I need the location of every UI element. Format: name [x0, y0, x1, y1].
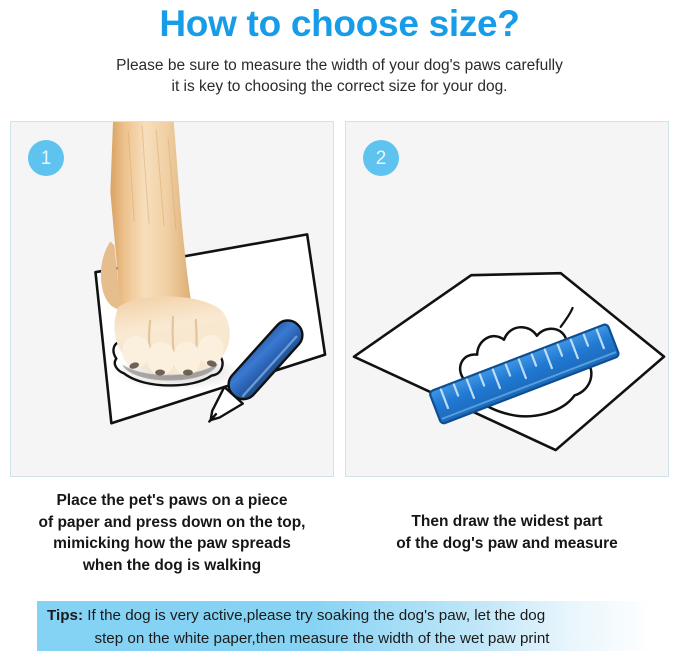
- step-caption-1: Place the pet's paws on a piece of paper…: [8, 490, 336, 576]
- tips-line-2: step on the white paper,then measure the…: [43, 627, 641, 650]
- step-badge-1: 1: [28, 140, 64, 176]
- illustration-paw-on-paper: [11, 122, 333, 476]
- caption-1-line-3: mimicking how the paw spreads: [8, 533, 336, 555]
- tips-line-1: Tips: If the dog is very active,please t…: [43, 604, 641, 627]
- caption-2-line-2: of the dog's paw and measure: [345, 533, 669, 555]
- tips-banner: Tips: If the dog is very active,please t…: [37, 601, 647, 651]
- illustration-paw-outline-with-ruler: [346, 122, 668, 476]
- caption-2-line-1: Then draw the widest part: [345, 511, 669, 533]
- infographic-page: How to choose size? Please be sure to me…: [0, 0, 679, 656]
- step-panel-2: 2: [345, 121, 669, 477]
- caption-1-line-4: when the dog is walking: [8, 555, 336, 577]
- caption-1-line-2: of paper and press down on the top,: [8, 512, 336, 534]
- step-badge-2: 2: [363, 140, 399, 176]
- step-caption-2: Then draw the widest part of the dog's p…: [345, 511, 669, 554]
- step-panel-1: 1: [10, 121, 334, 477]
- caption-1-line-1: Place the pet's paws on a piece: [8, 490, 336, 512]
- page-title: How to choose size?: [0, 2, 679, 46]
- page-subtitle: Please be sure to measure the width of y…: [0, 55, 679, 97]
- subtitle-line-1: Please be sure to measure the width of y…: [116, 57, 563, 74]
- tips-label: Tips:: [47, 607, 83, 624]
- tips-line-1-text: If the dog is very active,please try soa…: [83, 607, 545, 624]
- subtitle-line-2: it is key to choosing the correct size f…: [0, 76, 679, 97]
